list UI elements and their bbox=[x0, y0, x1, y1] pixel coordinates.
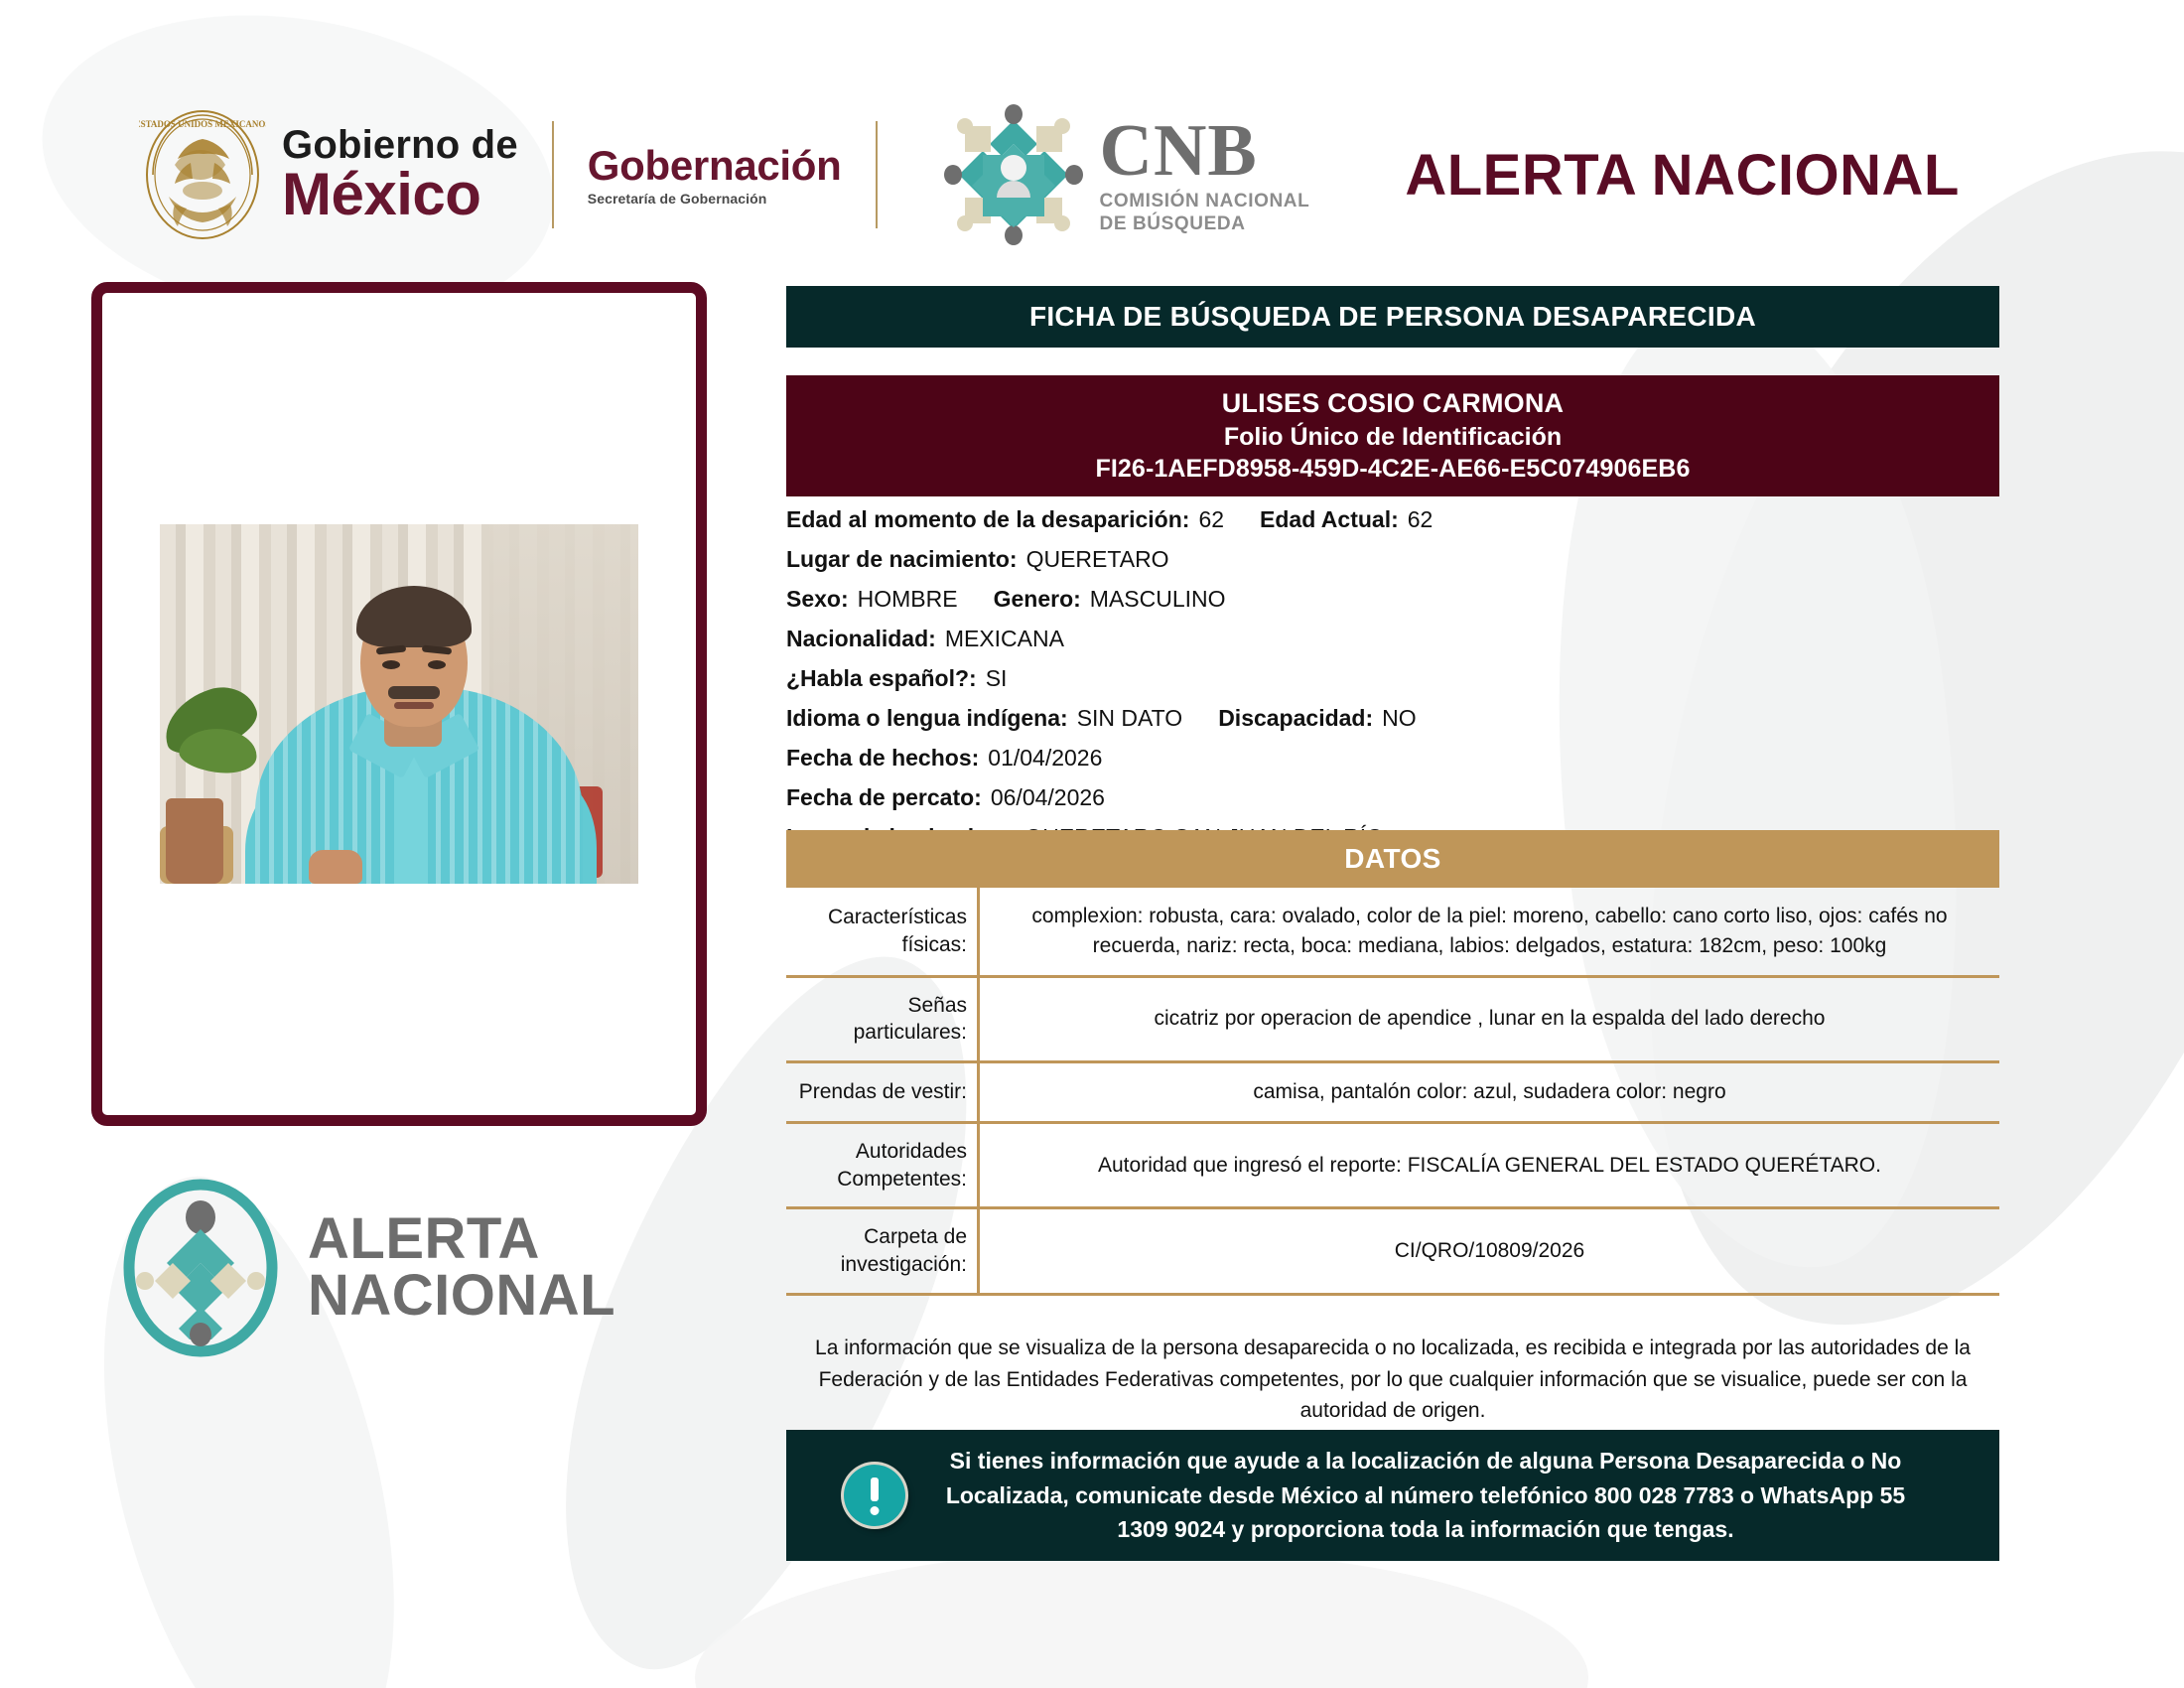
detail-label: Fecha de percato: bbox=[786, 786, 982, 809]
detail-label-2: Discapacidad: bbox=[1218, 707, 1373, 730]
detail-value: QUERETARO bbox=[1026, 548, 1169, 571]
detail-value: 01/04/2026 bbox=[988, 747, 1102, 770]
photo-frame bbox=[91, 282, 707, 1126]
detail-label: Sexo: bbox=[786, 588, 849, 611]
detail-value-2: 62 bbox=[1408, 508, 1433, 531]
gobernacion-subtitle: Secretaría de Gobernación bbox=[588, 192, 842, 207]
alerta-logo-line1: ALERTA bbox=[308, 1211, 615, 1268]
detail-row-sexo-genero: Sexo: HOMBRE Genero: MASCULINO bbox=[786, 588, 1999, 611]
detail-row-lugar-nacimiento: Lugar de nacimiento: QUERETARO bbox=[786, 548, 1999, 571]
person-name-block: ULISES COSIO CARMONA Folio Único de Iden… bbox=[786, 375, 1999, 496]
cnb-logo: CNB COMISIÓN NACIONAL DE BÚSQUEDA bbox=[939, 100, 1310, 249]
header-divider-1 bbox=[552, 121, 554, 228]
alerta-nacional-emblem-icon bbox=[117, 1178, 284, 1358]
person-photo bbox=[160, 524, 638, 884]
table-cell-key: Carpeta de investigación: bbox=[786, 1208, 979, 1294]
detail-value: 62 bbox=[1198, 508, 1224, 531]
table-cell-value: CI/QRO/10809/2026 bbox=[979, 1208, 2000, 1294]
detail-row-idioma-discapacidad: Idioma o lengua indígena: SIN DATO Disca… bbox=[786, 707, 1999, 730]
person-details-list: Edad al momento de la desaparición: 62 E… bbox=[786, 508, 1999, 866]
table-row: Señas particulares: cicatriz por operaci… bbox=[786, 976, 1999, 1061]
folio-label: Folio Único de Identificación bbox=[1224, 421, 1562, 453]
detail-row-fecha-percato: Fecha de percato: 06/04/2026 bbox=[786, 786, 1999, 809]
table-row: Características físicas: complexion: rob… bbox=[786, 888, 1999, 976]
datos-table: Características físicas: complexion: rob… bbox=[786, 888, 1999, 1296]
svg-text:ESTADOS UNIDOS MEXICANOS: ESTADOS UNIDOS MEXICANOS bbox=[139, 119, 266, 129]
table-cell-value: cicatriz por operacion de apendice , lun… bbox=[979, 976, 2000, 1061]
cnb-full-line1: COMISIÓN NACIONAL bbox=[1100, 190, 1310, 212]
mexican-coat-of-arms-icon: ESTADOS UNIDOS MEXICANOS bbox=[139, 105, 266, 244]
detail-row-habla-espanol: ¿Habla español?: SI bbox=[786, 667, 1999, 690]
gobernacion-logo: Gobernación Secretaría de Gobernación bbox=[588, 144, 842, 207]
alerta-nacional-logo: ALERTA NACIONAL bbox=[117, 1174, 733, 1362]
gob-line1: Gobierno de bbox=[282, 127, 518, 165]
ficha-banner: FICHA DE BÚSQUEDA DE PERSONA DESAPARECID… bbox=[786, 286, 1999, 348]
datos-header: DATOS bbox=[786, 830, 1999, 888]
page-header: ESTADOS UNIDOS MEXICANOS Gobierno de Méx… bbox=[0, 95, 2184, 254]
detail-row-edad: Edad al momento de la desaparición: 62 E… bbox=[786, 508, 1999, 531]
detail-value: MEXICANA bbox=[945, 628, 1064, 650]
table-cell-key: Señas particulares: bbox=[786, 976, 979, 1061]
table-cell-value: complexion: robusta, cara: ovalado, colo… bbox=[979, 888, 2000, 976]
detail-label: Nacionalidad: bbox=[786, 628, 936, 650]
detail-value: HOMBRE bbox=[858, 588, 958, 611]
alerta-logo-line2: NACIONAL bbox=[308, 1268, 615, 1325]
cnb-abbreviation: CNB bbox=[1100, 114, 1310, 188]
detail-label: Lugar de nacimiento: bbox=[786, 548, 1018, 571]
table-cell-value: camisa, pantalón color: azul, sudadera c… bbox=[979, 1062, 2000, 1123]
table-cell-key: Autoridades Competentes: bbox=[786, 1122, 979, 1207]
alert-page: ESTADOS UNIDOS MEXICANOS Gobierno de Méx… bbox=[0, 0, 2184, 1688]
detail-value: 06/04/2026 bbox=[991, 786, 1105, 809]
detail-label: Idioma o lengua indígena: bbox=[786, 707, 1068, 730]
table-row: Carpeta de investigación: CI/QRO/10809/2… bbox=[786, 1208, 1999, 1294]
detail-row-nacionalidad: Nacionalidad: MEXICANA bbox=[786, 628, 1999, 650]
table-cell-key: Prendas de vestir: bbox=[786, 1062, 979, 1123]
gob-line2: México bbox=[282, 167, 518, 222]
table-cell-value: Autoridad que ingresó el reporte: FISCAL… bbox=[979, 1122, 2000, 1207]
datos-section: DATOS Características físicas: complexio… bbox=[786, 830, 1999, 1296]
gobernacion-title: Gobernación bbox=[588, 144, 842, 188]
contact-banner: Si tienes información que ayude a la loc… bbox=[786, 1430, 1999, 1561]
cnb-mandala-icon bbox=[939, 100, 1088, 249]
detail-row-fecha-hechos: Fecha de hechos: 01/04/2026 bbox=[786, 747, 1999, 770]
table-row: Autoridades Competentes: Autoridad que i… bbox=[786, 1122, 1999, 1207]
disclaimer-text: La información que se visualiza de la pe… bbox=[786, 1319, 1999, 1427]
folio-value: FI26-1AEFD8958-459D-4C2E-AE66-E5C074906E… bbox=[1096, 453, 1691, 485]
alerta-nacional-title: ALERTA NACIONAL bbox=[1405, 142, 1959, 209]
detail-label: Fecha de hechos: bbox=[786, 747, 979, 770]
header-divider-2 bbox=[876, 121, 878, 228]
person-name: ULISES COSIO CARMONA bbox=[1222, 387, 1565, 420]
detail-label-2: Edad Actual: bbox=[1260, 508, 1399, 531]
table-row: Prendas de vestir: camisa, pantalón colo… bbox=[786, 1062, 1999, 1123]
gobierno-de-mexico-logo: ESTADOS UNIDOS MEXICANOS Gobierno de Méx… bbox=[139, 105, 518, 244]
detail-label-2: Genero: bbox=[994, 588, 1081, 611]
table-cell-key: Características físicas: bbox=[786, 888, 979, 976]
contact-text: Si tienes información que ayude a la loc… bbox=[927, 1444, 1964, 1547]
detail-label: Edad al momento de la desaparición: bbox=[786, 508, 1189, 531]
detail-value: SI bbox=[986, 667, 1008, 690]
detail-value-2: MASCULINO bbox=[1090, 588, 1226, 611]
detail-label: ¿Habla español?: bbox=[786, 667, 977, 690]
detail-value-2: NO bbox=[1382, 707, 1417, 730]
exclamation-icon bbox=[844, 1465, 905, 1526]
detail-value: SIN DATO bbox=[1077, 707, 1183, 730]
cnb-full-line2: DE BÚSQUEDA bbox=[1100, 212, 1310, 235]
